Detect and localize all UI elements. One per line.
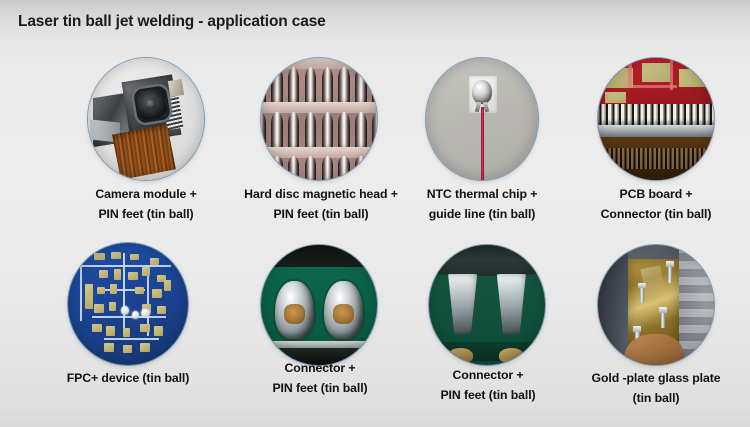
caption-line-2: (tin ball) — [586, 388, 726, 408]
caption-line-1: PCB board + — [586, 184, 726, 204]
photo-vignette — [426, 58, 538, 180]
ntc-thermal-chip-photo[interactable] — [426, 58, 538, 180]
caption-fpc-device: FPC+ device (tin ball) — [58, 368, 198, 388]
slide-canvas: Laser tin ball jet welding - application… — [0, 0, 750, 427]
caption-pcb-board: PCB board + Connector (tin ball) — [586, 184, 726, 224]
caption-line-1: Gold -plate glass plate — [586, 368, 726, 388]
photo-vignette — [261, 245, 377, 365]
caption-camera-module: Camera module + PIN feet (tin ball) — [76, 184, 216, 224]
caption-line-1: Connector + — [418, 365, 558, 385]
photo-vignette — [429, 245, 545, 365]
caption-gold-plate-glass-plate: Gold -plate glass plate (tin ball) — [586, 368, 726, 408]
caption-line-2: PIN feet (tin ball) — [418, 385, 558, 405]
caption-line-2: Connector (tin ball) — [586, 204, 726, 224]
caption-line-2: PIN feet (tin ball) — [76, 204, 216, 224]
caption-hard-disc-magnetic-head: Hard disc magnetic head + PIN feet (tin … — [236, 184, 406, 224]
photo-vignette — [68, 243, 188, 365]
caption-line-2: PIN feet (tin ball) — [250, 378, 390, 398]
caption-line-2: guide line (tin ball) — [412, 204, 552, 224]
caption-line-1: Camera module + — [76, 184, 216, 204]
caption-connector-pin-feet-2: Connector + PIN feet (tin ball) — [418, 365, 558, 405]
caption-line-1: Connector + — [250, 358, 390, 378]
connector-pin-feet-photo-2[interactable] — [429, 245, 545, 365]
photo-vignette — [88, 58, 204, 180]
fpc-device-photo[interactable] — [68, 243, 188, 365]
connector-pin-feet-photo-1[interactable] — [261, 245, 377, 365]
page-title: Laser tin ball jet welding - application… — [18, 13, 326, 31]
caption-line-2: PIN feet (tin ball) — [236, 204, 406, 224]
gold-plate-glass-plate-photo[interactable] — [598, 245, 714, 365]
pcb-board-photo[interactable] — [598, 58, 714, 180]
photo-vignette — [598, 245, 714, 365]
caption-line-1: Hard disc magnetic head + — [236, 184, 406, 204]
photo-vignette — [261, 58, 377, 180]
caption-line-1: FPC+ device (tin ball) — [58, 368, 198, 388]
caption-connector-pin-feet-1: Connector + PIN feet (tin ball) — [250, 358, 390, 398]
caption-ntc-thermal-chip: NTC thermal chip + guide line (tin ball) — [412, 184, 552, 224]
caption-line-1: NTC thermal chip + — [412, 184, 552, 204]
hard-disc-magnetic-head-photo[interactable] — [261, 58, 377, 180]
camera-module-photo[interactable] — [88, 58, 204, 180]
photo-vignette — [598, 58, 714, 180]
